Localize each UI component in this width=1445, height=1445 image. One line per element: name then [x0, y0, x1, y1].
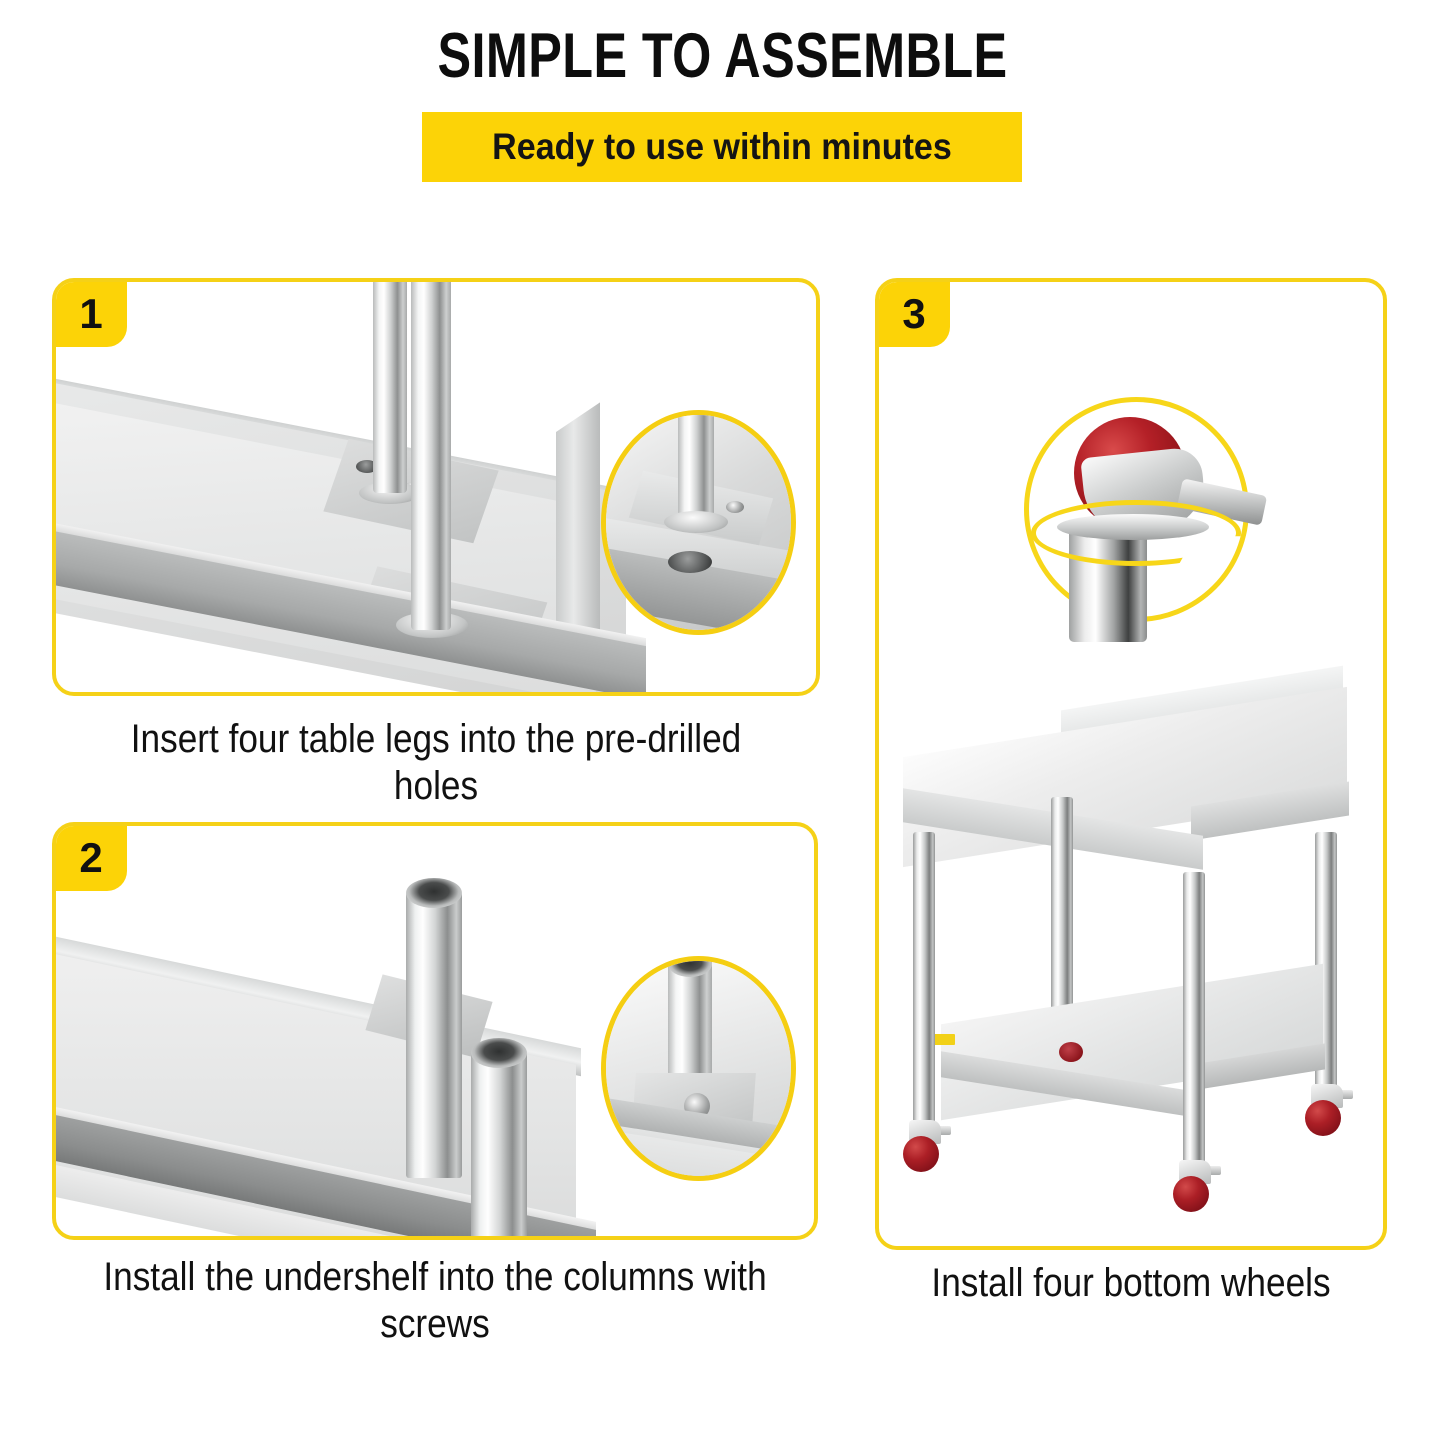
- magnified-pre-drilled-hole: [668, 551, 712, 573]
- leg-column-front: [471, 1038, 527, 1240]
- step-panel-1: 1: [52, 278, 820, 696]
- caster-wheel: [903, 1136, 939, 1172]
- table-leg-back: [373, 278, 407, 493]
- table-caster-front-left: [903, 1120, 945, 1176]
- caster-wheel: [1305, 1100, 1341, 1136]
- step-number-badge-1: 1: [55, 281, 127, 347]
- table-caster-back-right: [1305, 1084, 1347, 1140]
- leg-column-opening: [406, 878, 462, 908]
- table-caster-front-right: [1173, 1160, 1215, 1216]
- step-caption-1: Insert four table legs into the pre-dril…: [98, 716, 774, 810]
- caster-wheel: [1173, 1176, 1209, 1212]
- magnifier-step-2: [601, 956, 796, 1181]
- step-number-badge-3: 3: [878, 281, 950, 347]
- step-2-photo: [56, 826, 814, 1236]
- table-leg-front-right: [1183, 872, 1205, 1172]
- step-caption-3: Install four bottom wheels: [906, 1260, 1357, 1307]
- leg-column-body: [471, 1052, 527, 1240]
- step-caption-2: Install the undershelf into the columns …: [98, 1254, 772, 1348]
- table-leg-front: [411, 278, 451, 630]
- magnified-leg-socket: [664, 511, 728, 533]
- step-panel-2: 2: [52, 822, 818, 1240]
- step-panel-3: 3: [875, 278, 1387, 1250]
- subtitle-text: Ready to use within minutes: [446, 112, 998, 182]
- subtitle-badge: Ready to use within minutes: [422, 112, 1022, 182]
- leg-column-opening: [471, 1038, 527, 1068]
- page-title: SIMPLE TO ASSEMBLE: [145, 20, 1301, 92]
- magnified-screw: [726, 501, 744, 513]
- magnifier-step-1: [601, 410, 796, 635]
- step-1-photo: [56, 282, 816, 692]
- table-leg-front-left: [913, 832, 935, 1132]
- leg-column-rear: [406, 878, 462, 1178]
- table-caster-back-left: [1059, 1042, 1083, 1062]
- leg-column-body: [406, 892, 462, 1178]
- header: SIMPLE TO ASSEMBLE Ready to use within m…: [0, 0, 1445, 200]
- step-number-badge-2: 2: [55, 825, 127, 891]
- step-3-photo: [879, 282, 1383, 1246]
- assembled-work-table: [891, 682, 1381, 1222]
